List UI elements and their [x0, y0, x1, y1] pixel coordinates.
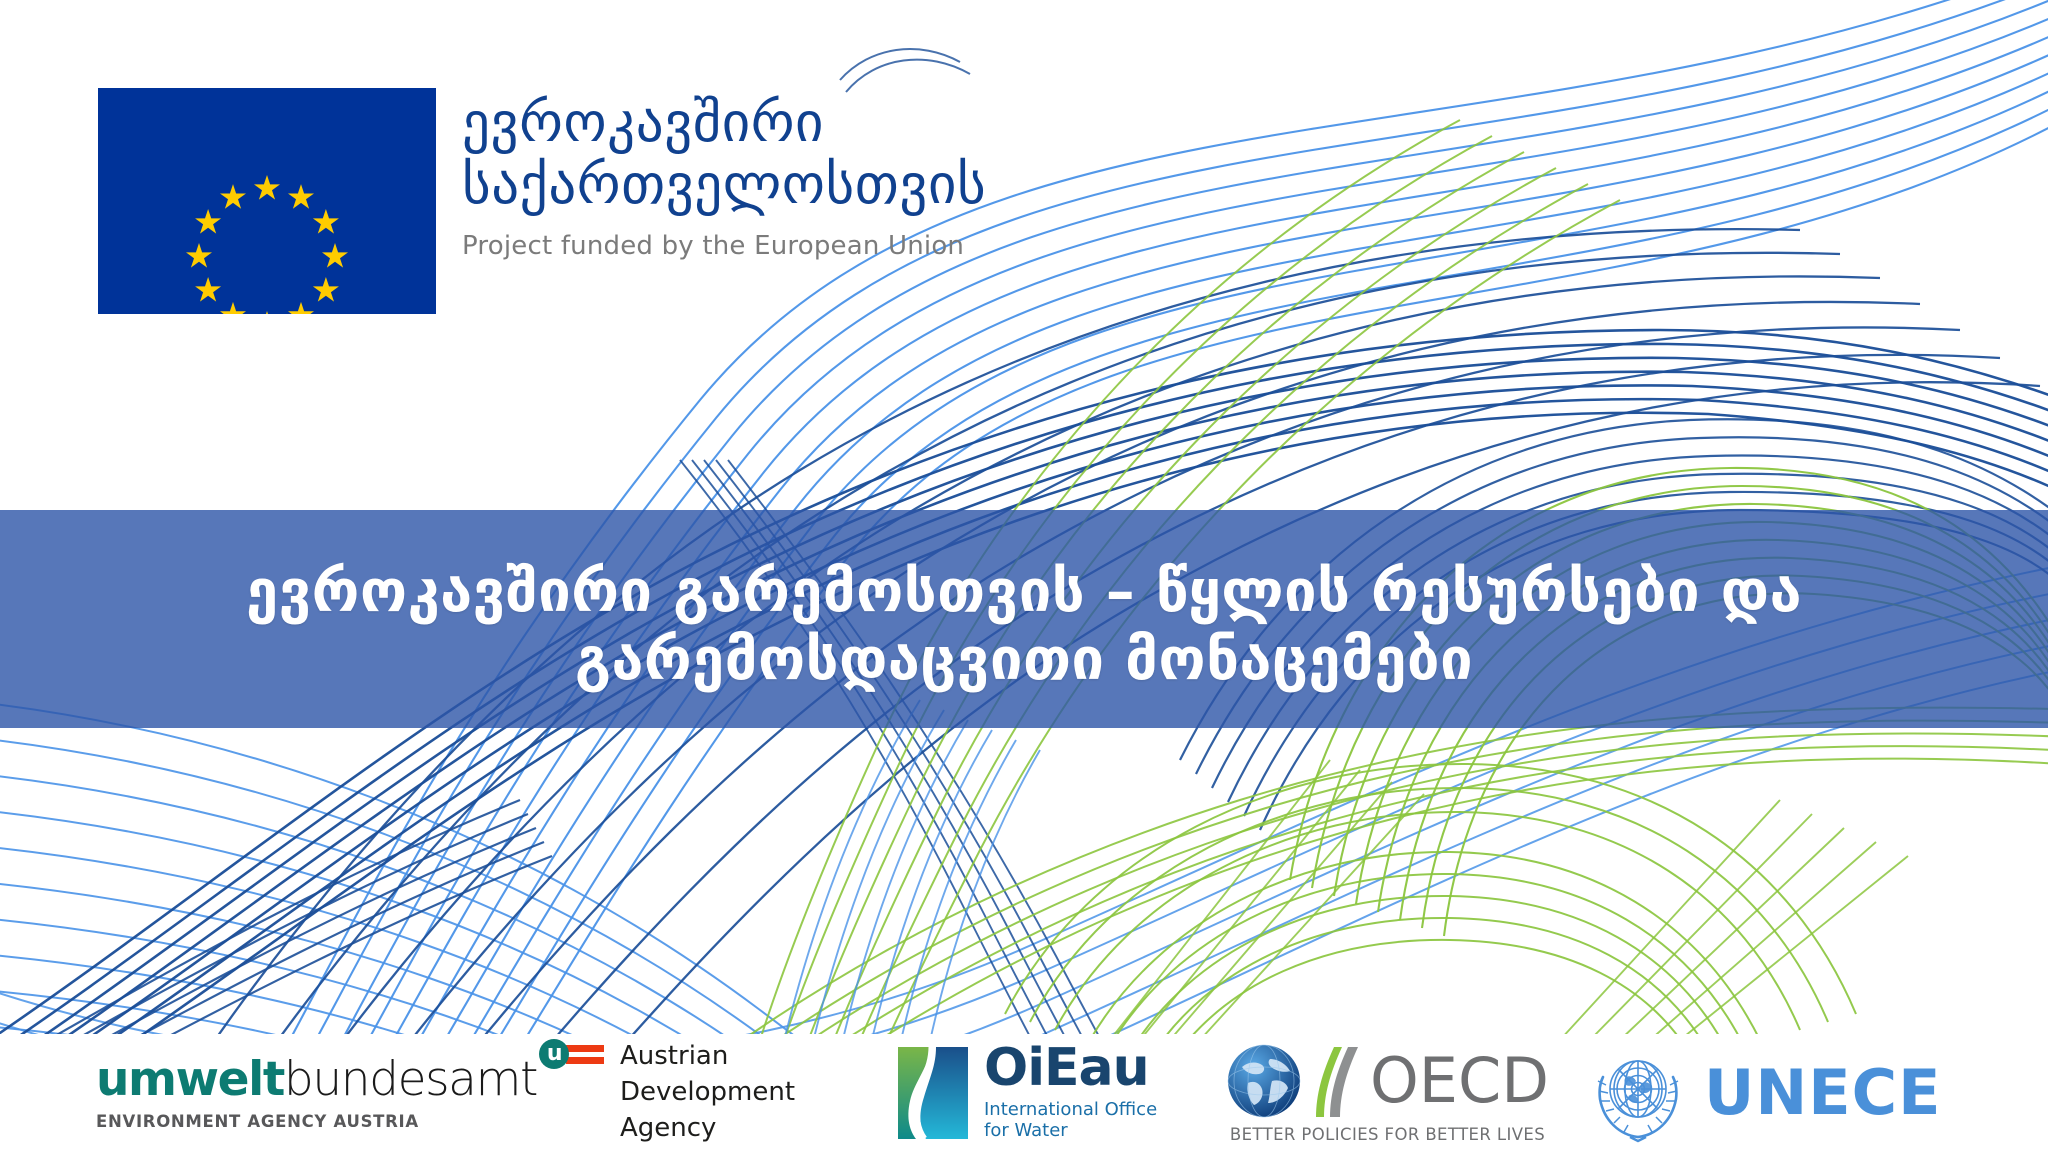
umweltbundesamt-tagline: ENVIRONMENT AGENCY AUSTRIA [96, 1114, 569, 1131]
slide-title: ევროკავშირი გარემოსთვის – წყლის რესურსებ… [0, 545, 2048, 705]
oieau-sub1: International Office [984, 1099, 1157, 1121]
eu-logo-title-line1: ევროკავშირი [462, 90, 824, 154]
eu-logo-subtitle: Project funded by the European Union [462, 231, 986, 261]
eu-logo-title: ევროკავშირი საქართველოსთვის [462, 92, 986, 215]
eu-logo-texts: ევროკავშირი საქართველოსთვის Project fund… [462, 88, 986, 261]
oecd-chevrons-icon [1308, 1043, 1364, 1119]
austria-flag-icon [566, 1045, 604, 1064]
ada-line3: Agency [620, 1111, 795, 1147]
oecd-wordmark: OECD [1370, 1050, 1549, 1112]
logo-oieau: OiEau International Office for Water [896, 1043, 1226, 1143]
unece-wordmark: UNECE [1704, 1062, 1941, 1124]
oieau-water-mark-icon [896, 1043, 970, 1143]
oieau-sub2: for Water [984, 1120, 1157, 1142]
logo-umweltbundesamt: umweltbundesamtu ENVIRONMENT AGENCY AUST… [96, 1056, 566, 1131]
oieau-wordmark: OiEau [984, 1044, 1157, 1094]
ada-line2: Development [620, 1075, 795, 1111]
oecd-tagline: BETTER POLICIES FOR BETTER LIVES [1230, 1125, 1545, 1144]
presentation-title-slide: ევროკავშირი საქართველოსთვის Project fund… [0, 0, 2048, 1152]
logo-oecd: OECD BETTER POLICIES FOR BETTER LIVES [1226, 1043, 1586, 1144]
slide-title-line2: გარემოსდაცვითი მონაცემები [575, 625, 1473, 693]
slide-title-line1: ევროკავშირი გარემოსთვის – წყლის რესურსებ… [246, 557, 1802, 625]
eu-logo-block: ევროკავშირი საქართველოსთვის Project fund… [98, 88, 986, 314]
united-nations-emblem-icon [1586, 1041, 1690, 1145]
oecd-globe-icon [1226, 1043, 1302, 1119]
ada-line1: Austrian [620, 1039, 795, 1075]
logo-unece: UNECE [1586, 1041, 1941, 1145]
umweltbundesamt-bold: umwelt [96, 1052, 284, 1107]
umweltbundesamt-light: bundesamt [284, 1052, 537, 1107]
logo-austrian-development-agency: Austrian Development Agency [566, 1039, 896, 1147]
umweltbundesamt-superscript-icon: u [539, 1039, 569, 1069]
partner-logo-footer: umweltbundesamtu ENVIRONMENT AGENCY AUST… [0, 1034, 2048, 1152]
eu-logo-title-line2: საქართველოსთვის [462, 154, 986, 216]
european-union-flag [98, 88, 436, 314]
